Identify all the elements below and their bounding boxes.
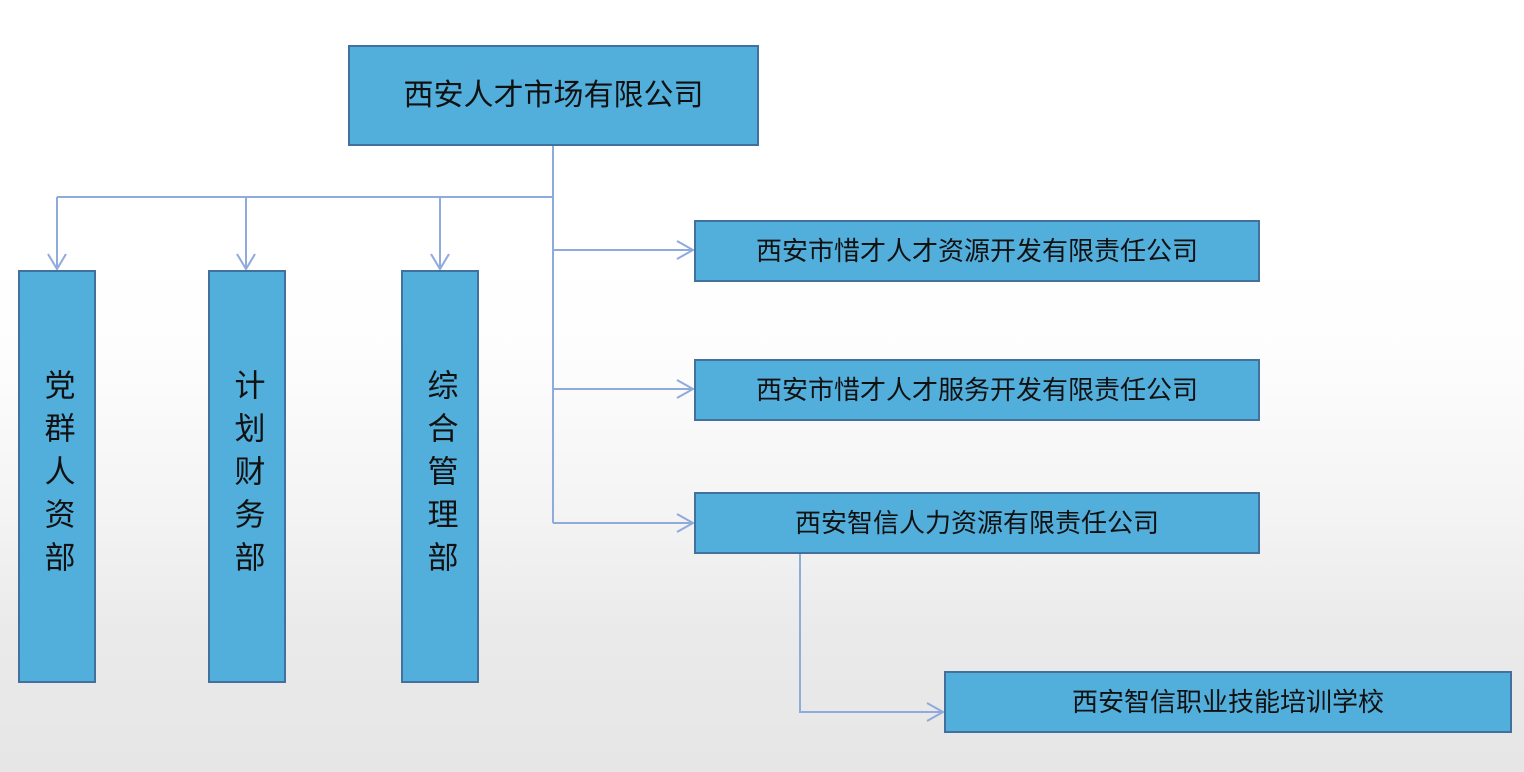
connector-school	[800, 554, 942, 712]
node-subsidiary-zhixin-vocational-school-label: 西安智信职业技能培训学校	[1072, 687, 1384, 718]
node-department-planning-finance-label: 计划财务部	[232, 369, 263, 584]
node-department-planning-finance[interactable]: 计划财务部	[208, 270, 286, 683]
node-subsidiary-xicai-talent-service-label: 西安市惜才人才服务开发有限责任公司	[756, 375, 1198, 406]
node-subsidiary-zhixin-human-resource-label: 西安智信人力资源有限责任公司	[795, 508, 1159, 539]
node-subsidiary-zhixin-human-resource[interactable]: 西安智信人力资源有限责任公司	[694, 492, 1260, 554]
node-department-party-hr[interactable]: 党群人资部	[18, 270, 96, 683]
node-subsidiary-xicai-talent-service[interactable]: 西安市惜才人才服务开发有限责任公司	[694, 359, 1260, 421]
node-department-general-management[interactable]: 综合管理部	[401, 270, 479, 683]
node-department-party-hr-label: 党群人资部	[42, 369, 73, 584]
node-department-general-management-label: 综合管理部	[425, 369, 456, 584]
node-root-company[interactable]: 西安人才市场有限公司	[348, 45, 759, 146]
node-root-company-label: 西安人才市场有限公司	[404, 78, 704, 113]
org-chart-canvas: 西安人才市场有限公司 党群人资部 计划财务部 综合管理部 西安市惜才人才资源开发…	[0, 0, 1524, 772]
node-subsidiary-xicai-talent-resource[interactable]: 西安市惜才人才资源开发有限责任公司	[694, 220, 1260, 282]
node-subsidiary-zhixin-vocational-school[interactable]: 西安智信职业技能培训学校	[944, 671, 1512, 733]
node-subsidiary-xicai-talent-resource-label: 西安市惜才人才资源开发有限责任公司	[756, 236, 1198, 267]
